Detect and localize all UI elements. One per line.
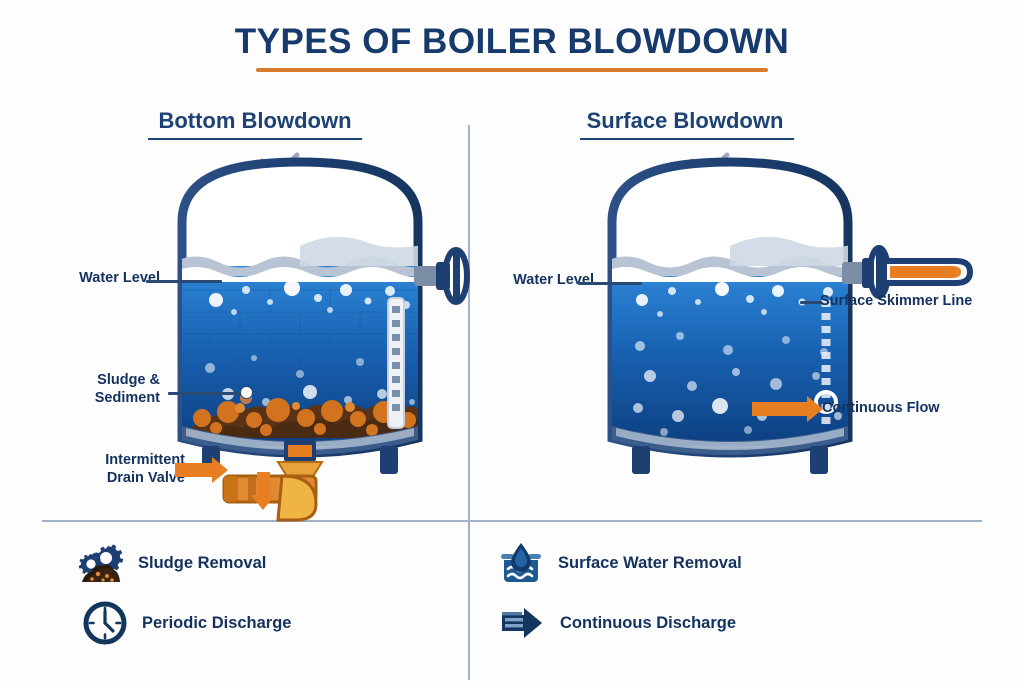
leader-line-water-level-right (578, 282, 642, 285)
arrow-continuous-flow (752, 402, 808, 416)
leader-line-sludge (168, 392, 244, 395)
page-title: TYPES OF BOILER BLOWDOWN (0, 22, 1024, 62)
callout-sludge-sediment: Sludge & Sediment (30, 372, 160, 407)
clock-icon (82, 600, 128, 646)
leader-line-water-level-left (146, 280, 222, 283)
legend-item-periodic-discharge: Periodic Discharge (82, 600, 291, 646)
surface-skimmer-pipe (884, 261, 970, 283)
horizontal-divider (42, 520, 982, 522)
callout-sludge-line2: Sediment (30, 390, 160, 408)
legend-label-sludge-removal: Sludge Removal (138, 554, 266, 573)
legend-label-continuous-discharge: Continuous Discharge (560, 614, 736, 633)
title-underline (256, 68, 768, 72)
callout-valve-line2: Drain Valve (50, 470, 185, 488)
panel-heading-surface-blowdown: Surface Blowdown (540, 108, 830, 134)
callout-water-level-right: Water Level (484, 272, 594, 290)
boiler-diagram-bottom-blowdown (150, 150, 450, 510)
callout-water-level-left: Water Level (50, 270, 160, 288)
vertical-divider (468, 125, 470, 680)
leader-line-skimmer (800, 301, 822, 304)
arrow-to-drain-valve (175, 463, 213, 477)
leader-dot-sludge (240, 386, 253, 399)
panel-heading-underline-left (148, 138, 362, 140)
striped-arrow-icon (500, 600, 546, 646)
panel-heading-bottom-blowdown: Bottom Blowdown (110, 108, 400, 134)
legend-label-periodic-discharge: Periodic Discharge (142, 614, 291, 633)
legend-item-continuous-discharge: Continuous Discharge (500, 600, 736, 646)
callout-valve-line1: Intermittent (50, 452, 185, 470)
boiler-leg (810, 446, 828, 474)
water-droplet-icon (498, 540, 544, 586)
panel-heading-underline-right (580, 138, 794, 140)
callout-surface-skimmer-line: Surface Skimmer Line (820, 293, 972, 311)
arrow-drain-discharge (257, 472, 270, 496)
legend-item-sludge-removal: Sludge Removal (78, 540, 266, 586)
legend-item-surface-water-removal: Surface Water Removal (498, 540, 742, 586)
boiler-leg (380, 446, 398, 474)
callout-intermittent-drain-valve: Intermittent Drain Valve (50, 452, 185, 487)
legend-label-surface-water-removal: Surface Water Removal (558, 554, 742, 573)
infographic-canvas: TYPES OF BOILER BLOWDOWN Bottom Blowdown (0, 0, 1024, 683)
sludge-gears-icon (78, 540, 124, 586)
boiler-diagram-surface-blowdown (580, 150, 880, 510)
sight-glass (388, 298, 404, 428)
boiler-leg (632, 446, 650, 474)
callout-sludge-line1: Sludge & (30, 372, 160, 390)
callout-continuous-flow: Continuous Flow (822, 400, 940, 418)
